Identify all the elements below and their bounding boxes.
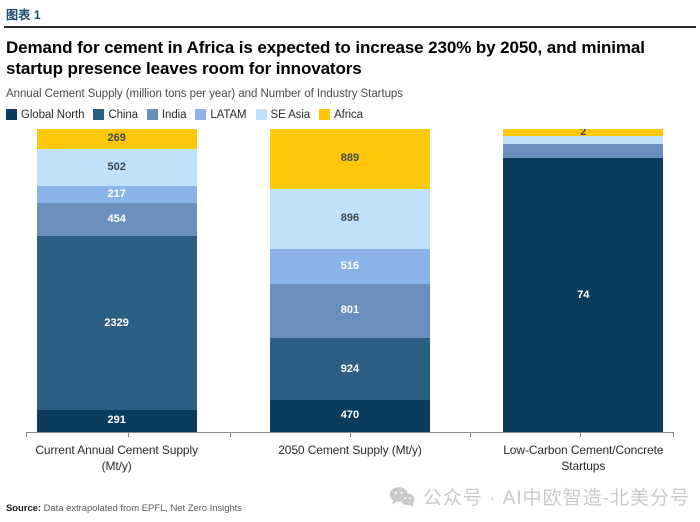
legend-label: China: [108, 109, 138, 121]
watermark-text: 公众号 · AI中欧智造-北美分号: [423, 483, 690, 510]
bar-segment[interactable]: 924: [270, 338, 430, 400]
bar-segment-value-label: 516: [341, 261, 359, 272]
bar-segment[interactable]: 801: [270, 284, 430, 338]
stacked-bar[interactable]: 274: [503, 129, 663, 432]
bar-segment[interactable]: 454: [37, 203, 197, 237]
page-title: Demand for cement in Africa is expected …: [0, 28, 700, 80]
axis-tick: [580, 433, 581, 437]
axis-tick: [230, 433, 231, 437]
stacked-bar[interactable]: 2695022174542329291: [37, 129, 197, 432]
category-label-line: (Mt/y): [6, 458, 227, 474]
category-label-line: Low-Carbon Cement/Concrete: [473, 442, 694, 458]
page-subtitle: Annual Cement Supply (million tons per y…: [0, 80, 700, 100]
legend-item[interactable]: China: [93, 109, 138, 121]
bar-segment[interactable]: 2: [503, 129, 663, 136]
category-label-line: Current Annual Cement Supply: [6, 442, 227, 458]
bar-column: 2695022174542329291: [0, 129, 233, 432]
stacked-bar[interactable]: 889896516801924470: [270, 129, 430, 432]
legend-label: LATAM: [210, 109, 246, 121]
chart-legend: Global NorthChinaIndiaLATAMSE AsiaAfrica: [0, 100, 700, 121]
watermark: 公众号 · AI中欧智造-北美分号: [389, 483, 690, 510]
axis-tick: [673, 433, 674, 437]
bar-segment-value-label: 2329: [104, 318, 128, 329]
bar-segment-value-label: 801: [341, 305, 359, 316]
category-label-line: 2050 Cement Supply (Mt/y): [239, 442, 460, 458]
legend-item[interactable]: Africa: [319, 109, 363, 121]
bar-column: 889896516801924470: [233, 129, 466, 432]
bar-segment[interactable]: [503, 136, 663, 143]
bars-row: 2695022174542329291889896516801924470274: [0, 129, 700, 432]
bar-segment[interactable]: 2329: [37, 236, 197, 410]
wechat-icon: [389, 486, 415, 508]
bar-segment-value-label: 269: [107, 133, 125, 144]
bar-segment[interactable]: 269: [37, 129, 197, 149]
category-label-line: Startups: [473, 458, 694, 474]
bar-segment[interactable]: 896: [270, 189, 430, 249]
legend-item[interactable]: SE Asia: [256, 109, 311, 121]
axis-tick: [350, 433, 351, 437]
bar-segment-value-label: 896: [341, 213, 359, 224]
axis-tick: [128, 433, 129, 437]
source-prefix: Source:: [6, 503, 41, 514]
bar-column: 274: [467, 129, 700, 432]
category-label: Current Annual Cement Supply(Mt/y): [0, 442, 233, 474]
legend-item[interactable]: Global North: [6, 109, 84, 121]
bar-segment-value-label: 74: [577, 290, 589, 301]
legend-item[interactable]: LATAM: [195, 109, 246, 121]
bar-segment-value-label: 217: [107, 189, 125, 200]
bar-segment[interactable]: 291: [37, 410, 197, 432]
bar-segment-value-label: 924: [341, 364, 359, 375]
source-note: Source: Data extrapolated from EPFL, Net…: [6, 503, 242, 514]
legend-swatch-icon: [93, 109, 104, 120]
legend-label: Global North: [21, 109, 84, 121]
legend-label: Africa: [334, 109, 363, 121]
bar-segment-value-label: 470: [341, 410, 359, 421]
bar-segment[interactable]: 217: [37, 186, 197, 202]
legend-swatch-icon: [6, 109, 17, 120]
exhibit-label: 图表 1: [0, 0, 700, 26]
axis-tick: [26, 433, 27, 437]
bar-segment-value-label: 2: [580, 129, 586, 136]
bar-segment-value-label: 502: [107, 162, 125, 173]
bar-segment[interactable]: 502: [37, 149, 197, 186]
legend-label: India: [162, 109, 186, 121]
bar-segment[interactable]: 889: [270, 129, 430, 189]
legend-swatch-icon: [147, 109, 158, 120]
bar-segment-value-label: 291: [107, 415, 125, 426]
axis-tick: [470, 433, 471, 437]
x-axis-category-labels: Current Annual Cement Supply(Mt/y)2050 C…: [0, 442, 700, 474]
bar-segment-value-label: 454: [107, 214, 125, 225]
bar-segment[interactable]: 470: [270, 400, 430, 432]
bar-segment[interactable]: 516: [270, 249, 430, 284]
legend-swatch-icon: [319, 109, 330, 120]
bar-segment[interactable]: [503, 144, 663, 159]
legend-swatch-icon: [256, 109, 267, 120]
legend-swatch-icon: [195, 109, 206, 120]
bar-segment-value-label: 889: [341, 153, 359, 164]
legend-label: SE Asia: [271, 109, 311, 121]
source-text: Data extrapolated from EPFL, Net Zero In…: [41, 503, 242, 514]
legend-item[interactable]: India: [147, 109, 186, 121]
category-label: 2050 Cement Supply (Mt/y): [233, 442, 466, 474]
chart-plot-area: 2695022174542329291889896516801924470274: [0, 129, 700, 436]
bar-segment[interactable]: 74: [503, 158, 663, 431]
category-label: Low-Carbon Cement/ConcreteStartups: [467, 442, 700, 474]
